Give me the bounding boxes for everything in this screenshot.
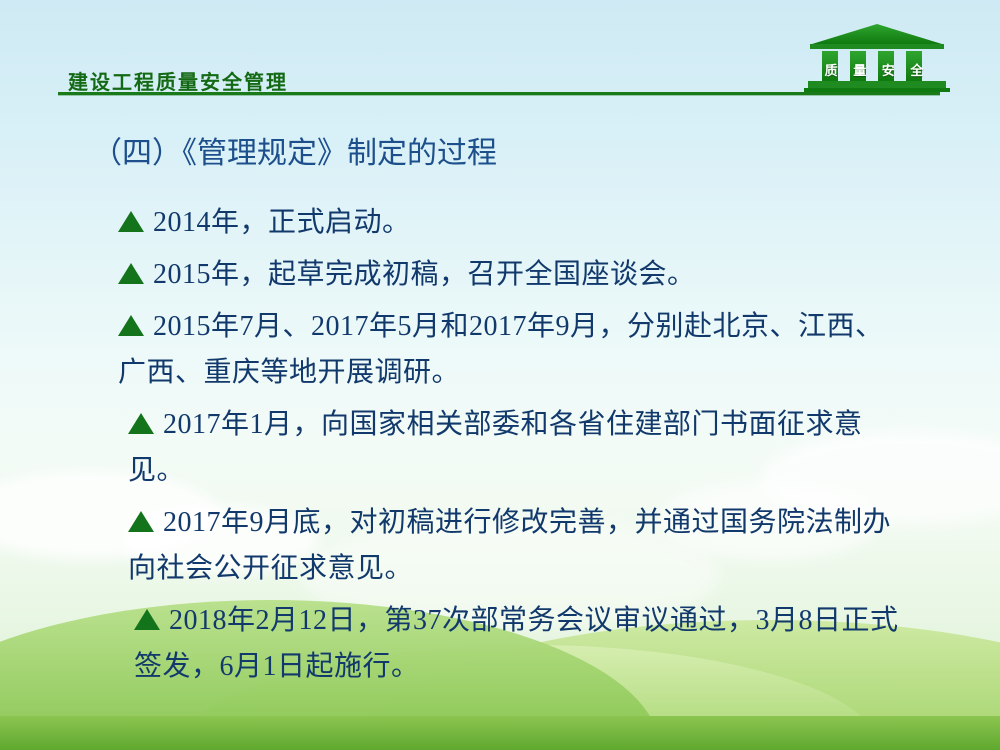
list-item: 2017年9月底，对初稿进行修改完善，并通过国务院法制办向社会公开征求意见。 [128, 500, 908, 592]
slide-canvas: 建设工程质量安全管理 质 量 安 全 （四）《管理规定》制定的过程 2014年，… [0, 0, 1000, 750]
list-item-text: 2015年7月、2017年5月和2017年9月，分别赴北京、江西、广西、重庆等地… [118, 311, 884, 388]
list-item-text: 2015年，起草完成初稿，召开全国座谈会。 [153, 259, 696, 290]
list-item-text: 2017年9月底，对初稿进行修改完善，并通过国务院法制办向社会公开征求意见。 [128, 507, 891, 584]
triangle-bullet-icon [134, 609, 160, 630]
list-item: 2014年，正式启动。 [118, 200, 908, 246]
triangle-bullet-icon [118, 211, 144, 232]
triangle-bullet-icon [118, 263, 144, 284]
bullet-list: 2014年，正式启动。 2015年，起草完成初稿，召开全国座谈会。 2015年7… [118, 200, 908, 696]
triangle-bullet-icon [118, 315, 144, 336]
list-item-text: 2017年1月，向国家相关部委和各省住建部门书面征求意见。 [128, 409, 863, 486]
grass-strip-decoration [0, 716, 1000, 750]
pillar-building-logo-icon: 质 量 安 全 [802, 22, 952, 94]
triangle-bullet-icon [128, 511, 154, 532]
triangle-bullet-icon [128, 413, 154, 434]
list-item: 2015年7月、2017年5月和2017年9月，分别赴北京、江西、广西、重庆等地… [118, 304, 908, 396]
list-item: 2018年2月12日，第37次部常务会议审议通过，3月8日正式签发，6月1日起施… [134, 598, 908, 690]
list-item-text: 2018年2月12日，第37次部常务会议审议通过，3月8日正式签发，6月1日起施… [134, 605, 899, 682]
header-title: 建设工程质量安全管理 [68, 66, 288, 95]
slide-title: （四）《管理规定》制定的过程 [92, 128, 497, 172]
list-item: 2015年，起草完成初稿，召开全国座谈会。 [118, 252, 908, 298]
list-item: 2017年1月，向国家相关部委和各省住建部门书面征求意见。 [128, 402, 908, 494]
list-item-text: 2014年，正式启动。 [153, 207, 411, 238]
